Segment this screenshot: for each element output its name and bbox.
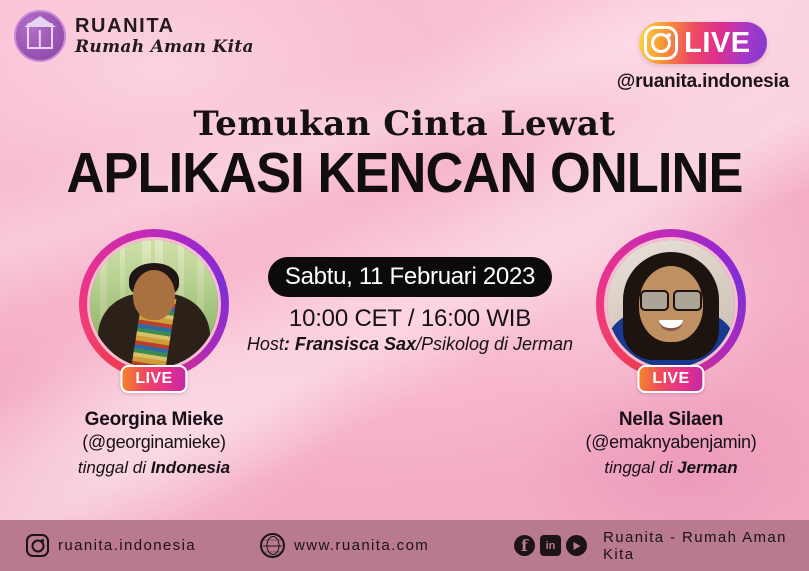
speaker-avatar-ring: LIVE	[596, 229, 746, 379]
footer-website[interactable]: www.ruanita.com	[260, 533, 429, 558]
brand-tagline: Rumah Aman Kita	[75, 39, 254, 56]
speaker-location: tinggal di Indonesia	[49, 458, 259, 478]
speaker-location: tinggal di Jerman	[566, 458, 776, 478]
speaker-location-value: Indonesia	[151, 458, 230, 477]
speaker-card-georgina: LIVE Georgina Mieke (@georginamieke) tin…	[49, 229, 259, 478]
event-time: 10:00 CET / 16:00 WIB	[255, 305, 565, 333]
facebook-icon[interactable]	[514, 535, 535, 556]
host-name: Fransisca Sax	[295, 334, 416, 354]
instagram-live-block: LIVE @ruanita.indonesia	[617, 22, 789, 93]
footer-instagram-handle: ruanita.indonesia	[58, 537, 196, 554]
youtube-icon[interactable]	[566, 535, 587, 556]
footer-org-name: Ruanita - Rumah Aman Kita	[603, 529, 809, 563]
speaker-avatar-ring: LIVE	[79, 229, 229, 379]
house-shield-logo-icon	[14, 10, 66, 62]
host-role: /Psikolog di Jerman	[416, 334, 573, 354]
footer-bar: ruanita.indonesia www.ruanita.com Ruanit…	[0, 520, 809, 571]
speaker-name: Nella Silaen	[566, 409, 776, 431]
speaker-photo	[607, 240, 735, 368]
speaker-location-prefix: tinggal di	[78, 458, 151, 477]
speaker-name: Georgina Mieke	[49, 409, 259, 431]
speaker-live-badge: LIVE	[120, 365, 187, 393]
footer-social-icons	[514, 535, 587, 556]
globe-icon	[260, 533, 285, 558]
footer-organization: Ruanita - Rumah Aman Kita	[514, 529, 809, 563]
instagram-icon	[644, 26, 678, 60]
footer-instagram[interactable]: ruanita.indonesia	[26, 534, 196, 557]
brand-name: RUANITA	[75, 16, 254, 36]
instagram-live-badge: LIVE	[639, 22, 766, 64]
speaker-location-prefix: tinggal di	[604, 458, 677, 477]
poster-canvas: RUANITA Rumah Aman Kita LIVE @ruanita.in…	[0, 0, 809, 571]
host-separator: :	[284, 334, 295, 354]
linkedin-icon[interactable]	[540, 535, 561, 556]
headline-subtitle: Temukan Cinta Lewat	[0, 104, 809, 144]
live-label: LIVE	[684, 29, 750, 58]
footer-website-url: www.ruanita.com	[294, 537, 429, 554]
instagram-handle: @ruanita.indonesia	[617, 71, 789, 93]
instagram-icon	[26, 534, 49, 557]
brand-logo: RUANITA Rumah Aman Kita	[14, 10, 254, 62]
speaker-location-value: Jerman	[677, 458, 737, 477]
event-date-badge: Sabtu, 11 Februari 2023	[268, 257, 552, 297]
speaker-handle: (@emaknyabenjamin)	[566, 432, 776, 453]
speaker-live-badge: LIVE	[637, 365, 704, 393]
speaker-photo	[90, 240, 218, 368]
event-date: Sabtu, 11 Februari 2023	[285, 263, 535, 291]
speaker-handle: (@georginamieke)	[49, 432, 259, 453]
event-host: Host: Fransisca Sax/Psikolog di Jerman	[230, 334, 590, 355]
page-title: APLIKASI KENCAN ONLINE	[32, 140, 776, 206]
speaker-card-nella: LIVE Nella Silaen (@emaknyabenjamin) tin…	[566, 229, 776, 478]
